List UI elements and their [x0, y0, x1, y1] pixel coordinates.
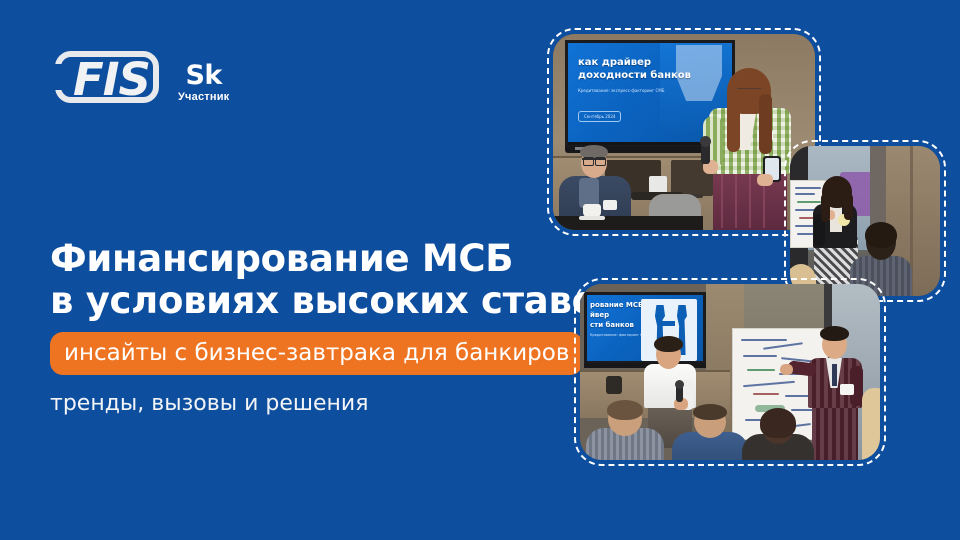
skolkovo-logo: Sk Участник	[178, 62, 229, 103]
audience-foreground-2	[672, 406, 748, 460]
fis-logo-text: FIS	[73, 57, 150, 102]
presentation-slide: FIS Sk Участник Финансирование МСБ в усл…	[0, 0, 960, 540]
skolkovo-logo-text: Sk	[178, 62, 229, 89]
screen-bottom-line-1: рование МСБ	[590, 301, 643, 309]
screen-bottom-line-3: сти банков	[590, 321, 634, 329]
photo-mid-speaker	[790, 146, 940, 296]
screen-title-line-1: как драйвер	[578, 57, 651, 68]
headline-line-1: Финансирование МСБ	[50, 238, 590, 280]
highlight-badge: инсайты с бизнес-завтрака для банкиров	[50, 332, 583, 375]
photo-top-speaker: как драйвер доходности банков Кредитован…	[553, 34, 815, 230]
brand-logo: FIS Sk Участник	[55, 48, 229, 110]
photo-bottom-panel: рование МСБ йвер сти банков Кредитование…	[580, 284, 880, 460]
screen-subtitle: Кредитование: экспресс-факторинг СМБ	[578, 88, 665, 93]
headline-block: Финансирование МСБ в условиях высоких ст…	[50, 238, 590, 417]
screen-title-line-2: доходности банков	[578, 70, 691, 81]
fis-logo-icon: FIS	[55, 48, 170, 110]
audience-foreground-1	[586, 402, 664, 460]
tagline-text: тренды, вызовы и решения	[50, 391, 590, 417]
screen-chip: Сентябрь 2024	[578, 111, 621, 122]
headline-line-2: в условиях высоких ставок	[50, 280, 590, 322]
audience-foreground-3	[742, 412, 814, 460]
screen-bottom-line-2: йвер	[590, 311, 609, 319]
fis-frame-notch	[53, 64, 69, 90]
skolkovo-caption: Участник	[178, 91, 229, 103]
